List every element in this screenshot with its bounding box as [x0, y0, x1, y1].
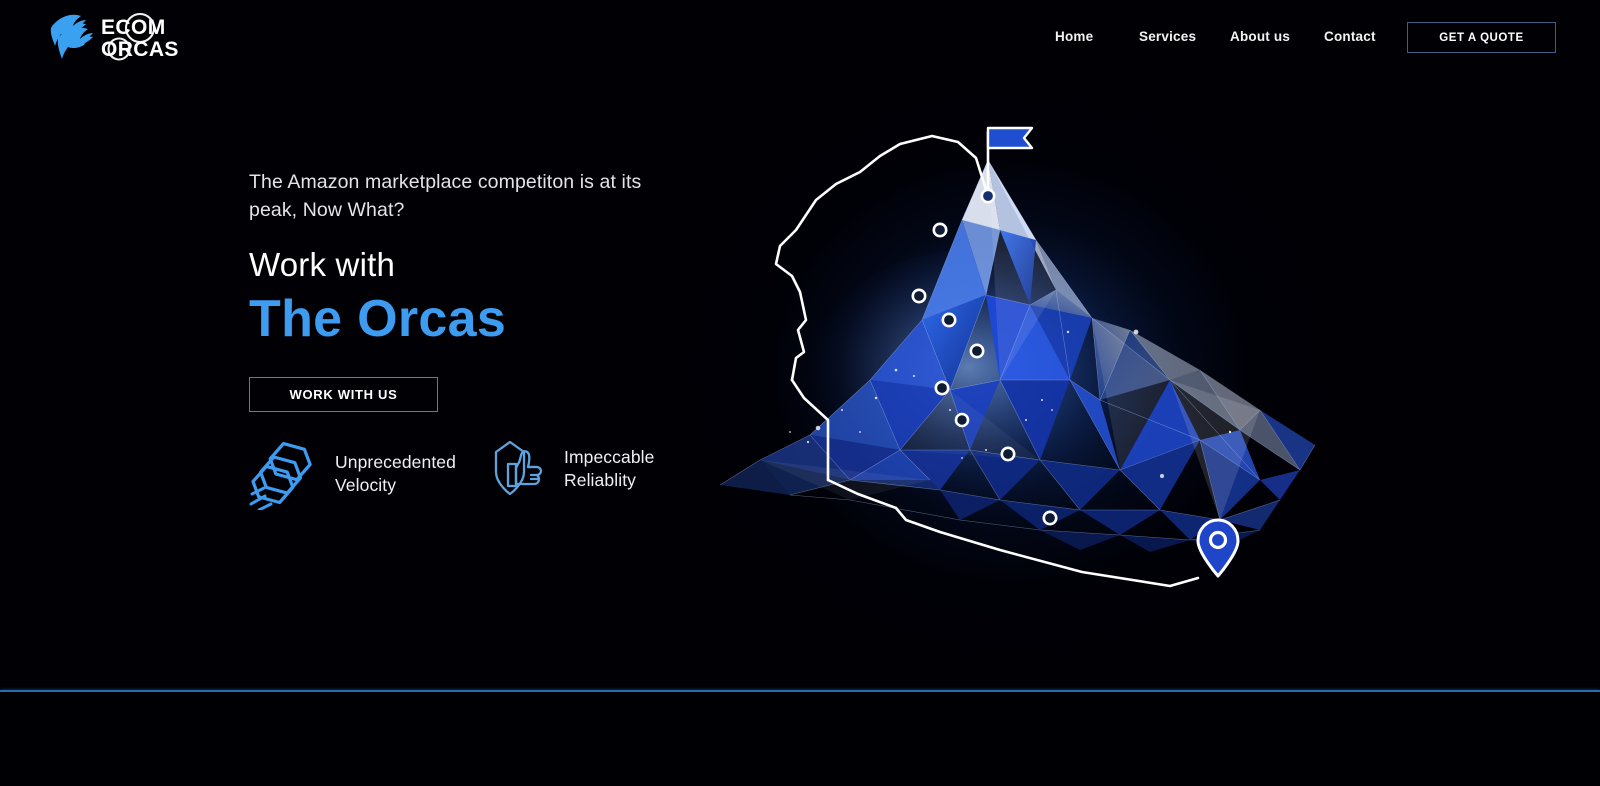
map-pin-icon — [1198, 520, 1238, 576]
svg-text:ECOM: ECOM — [101, 16, 166, 39]
get-a-quote-button[interactable]: GET A QUOTE — [1407, 22, 1556, 53]
nav-item-about-us[interactable]: About us — [1230, 29, 1324, 44]
hero-heading-line-2: The Orcas — [249, 290, 719, 348]
low-poly-mountain-summit-path-illustration — [700, 80, 1320, 620]
hero-heading-line-1: Work with — [249, 245, 719, 285]
hero-kicker: The Amazon marketplace competiton is at … — [249, 168, 679, 224]
site-header: ECOM ORCAS Home Services About us Contac… — [0, 0, 1600, 72]
feature-label-reliability-line-1: Impeccable — [564, 446, 655, 469]
work-with-us-button[interactable]: WORK WITH US — [249, 377, 438, 412]
mountain-polygons — [720, 160, 1315, 552]
feature-label-velocity-line-1: Unprecedented — [335, 451, 456, 474]
feature-unprecedented-velocity: Unprecedented Velocity — [249, 438, 488, 510]
brand-wordmark: ECOM ORCAS — [101, 14, 179, 61]
footer-section — [0, 692, 1600, 786]
feature-label-reliability-line-2: Reliablity — [564, 469, 655, 492]
nav-item-contact[interactable]: Contact — [1324, 29, 1384, 44]
feature-label-velocity: Unprecedented Velocity — [335, 451, 456, 497]
primary-navigation: Home Services About us Contact — [1055, 0, 1384, 72]
hero-copy: The Amazon marketplace competiton is at … — [249, 168, 719, 412]
feature-label-reliability: Impeccable Reliablity — [564, 446, 655, 492]
brand-logo[interactable]: ECOM ORCAS — [44, 8, 184, 64]
hero-feature-list: Unprecedented Velocity Impeccable Reliab… — [249, 438, 655, 510]
feature-label-velocity-line-2: Velocity — [335, 474, 456, 497]
orca-dolphin-pair-icon — [51, 15, 93, 59]
velocity-chevrons-icon — [249, 438, 317, 510]
shield-thumbs-up-icon — [488, 438, 550, 500]
feature-impeccable-reliability: Impeccable Reliablity — [488, 438, 655, 500]
nav-item-services[interactable]: Services — [1139, 29, 1230, 44]
nav-item-home[interactable]: Home — [1055, 29, 1139, 44]
hero-section: ECOM ORCAS Home Services About us Contac… — [0, 0, 1600, 691]
